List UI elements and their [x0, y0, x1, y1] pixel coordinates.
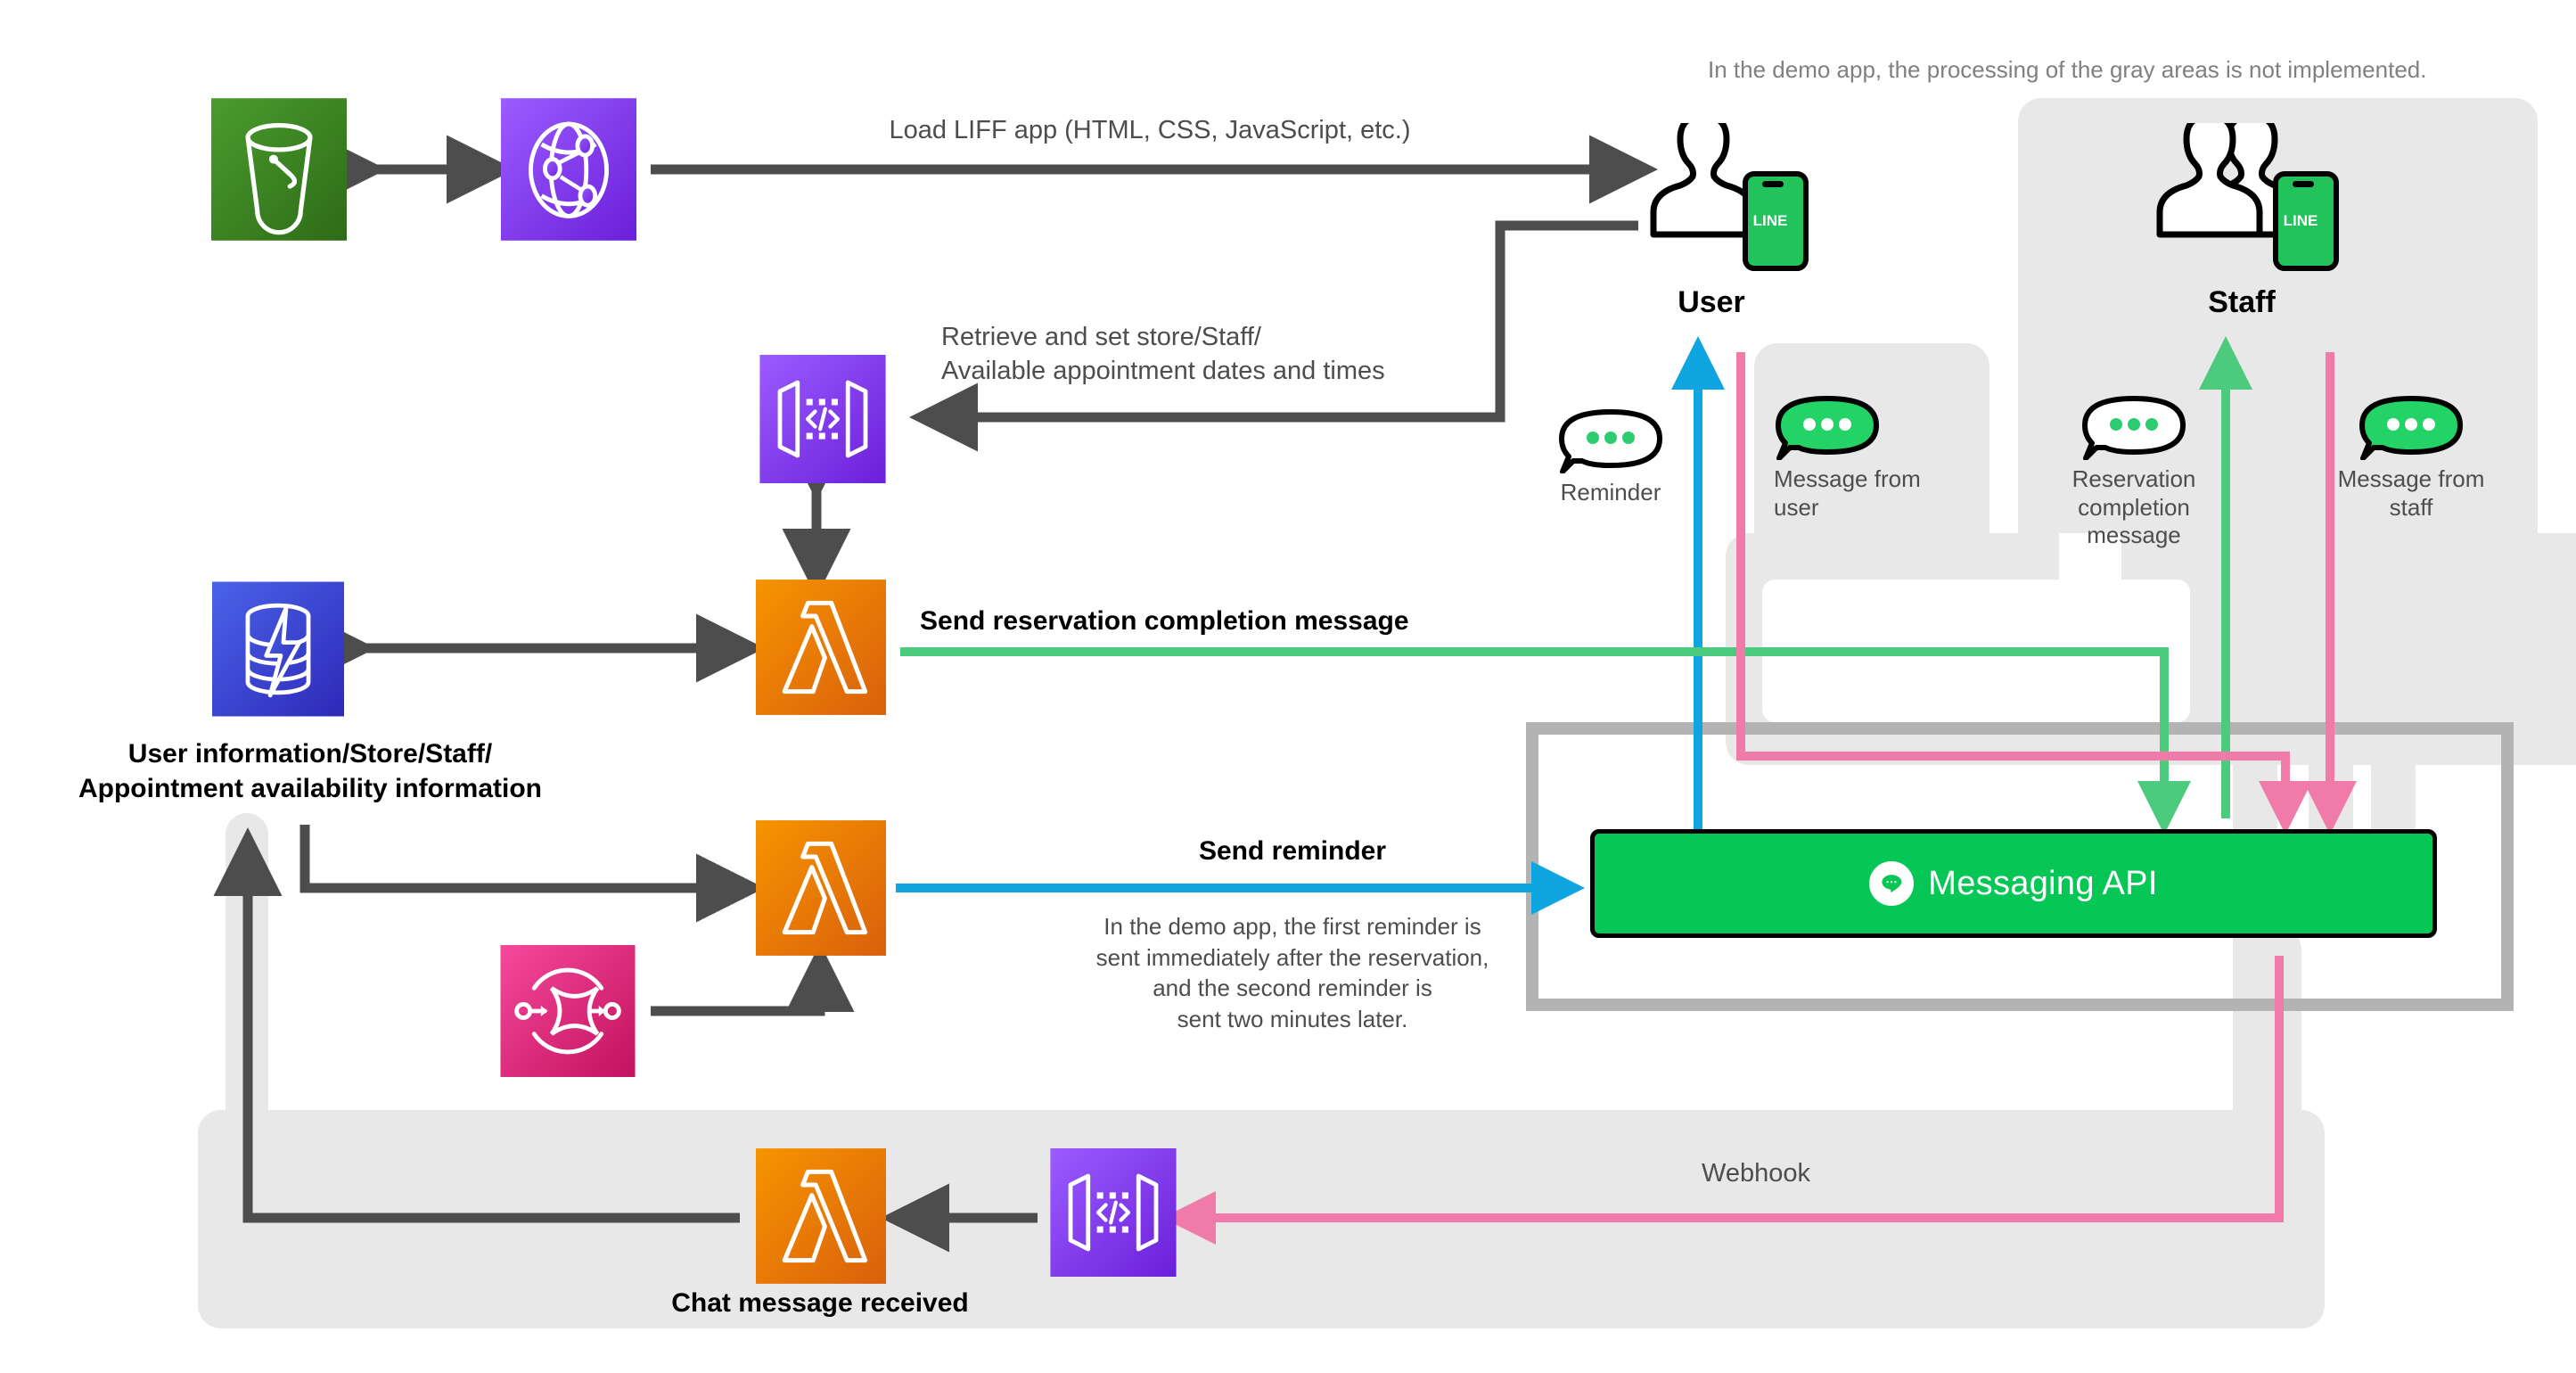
gray-area-left-vert — [226, 813, 268, 1152]
bubble-reminder-caption: Reminder — [1539, 479, 1682, 507]
edge-label-webhook: Webhook — [1604, 1157, 1907, 1191]
edge-label-retrieve-l1: Retrieve and set store/Staff/ — [941, 321, 1583, 355]
line-chat-icon — [1869, 861, 1914, 906]
edge-label-send-completion: Send reservation completion message — [920, 604, 1722, 638]
bubble-user-caption-l1: Message from — [1774, 465, 1952, 494]
bubble-reservation-caption-l2: completion — [2039, 494, 2228, 522]
reminder-note-l2: sent immediately after the reservation, — [980, 942, 1604, 974]
s3-bucket-icon — [211, 98, 347, 241]
arrow-branch-to-lambda-reminder — [305, 825, 745, 888]
staff-phone-icon: LINE — [2273, 171, 2339, 271]
lambda-icon-reminder — [756, 820, 886, 956]
reminder-note: In the demo app, the first reminder is s… — [980, 911, 1604, 1034]
architecture-diagram: LINE User LINE Staff Reminder — [0, 0, 2576, 1373]
staff-phone-line-label: LINE — [2278, 212, 2323, 230]
api-gateway-icon-bottom — [1050, 1148, 1177, 1277]
dynamodb-label-l2: Appointment availability information — [16, 771, 604, 806]
eventbridge-icon — [500, 945, 636, 1077]
dynamodb-icon — [212, 581, 344, 717]
dynamodb-label: User information/Store/Staff/ Appointmen… — [16, 736, 604, 806]
bubble-message-from-staff: Message from staff — [2318, 392, 2505, 522]
bubble-reminder: Reminder — [1539, 406, 1682, 507]
speech-bubble-green-icon — [2358, 392, 2465, 460]
bubble-reservation-caption-l1: Reservation — [2039, 465, 2228, 494]
user-phone-icon: LINE — [1743, 171, 1809, 271]
messaging-api-box[interactable]: Messaging API — [1590, 829, 2437, 938]
lambda-icon-chat — [756, 1148, 886, 1284]
gray-area-notch-white — [1762, 580, 2190, 722]
edge-label-send-reminder: Send reminder — [980, 834, 1604, 868]
edge-label-load-liff: Load LIFF app (HTML, CSS, JavaScript, et… — [749, 114, 1551, 148]
arrow-eventbridge-lambda — [651, 963, 820, 1011]
speech-bubble-green-icon — [1774, 392, 1881, 460]
user-phone-line-label: LINE — [1748, 212, 1793, 230]
reminder-note-l4: sent two minutes later. — [980, 1004, 1604, 1035]
user-label: User — [1622, 284, 1801, 322]
staff-label: Staff — [2144, 284, 2340, 322]
bubble-staff-caption-l2: staff — [2318, 494, 2505, 522]
reminder-note-l1: In the demo app, the first reminder is — [980, 911, 1604, 942]
phone-notch — [1762, 181, 1784, 187]
api-gateway-icon-top — [759, 355, 886, 483]
dynamodb-label-l1: User information/Store/Staff/ — [16, 736, 604, 771]
bubble-staff-caption-l1: Message from — [2318, 465, 2505, 494]
edge-label-retrieve: Retrieve and set store/Staff/ Available … — [941, 321, 1583, 388]
messaging-api-label: Messaging API — [1928, 865, 2157, 903]
person-icon — [1653, 123, 1753, 234]
cloudfront-icon — [501, 98, 636, 241]
note-top-right: In the demo app, the processing of the g… — [1708, 55, 2546, 86]
bubble-user-caption-l2: user — [1774, 494, 1952, 522]
bubble-message-from-user: Message from user — [1774, 392, 1952, 522]
edge-label-retrieve-l2: Available appointment dates and times — [941, 355, 1583, 389]
bubble-reservation-completion: Reservation completion message — [2039, 392, 2228, 550]
chat-received-label: Chat message received — [624, 1286, 1016, 1320]
phone-notch — [2293, 181, 2314, 187]
lambda-icon-reservation — [756, 580, 886, 715]
gray-area-bottom — [198, 1110, 2325, 1328]
reminder-note-l3: and the second reminder is — [980, 973, 1604, 1004]
bubble-reservation-caption-l3: message — [2039, 522, 2228, 550]
speech-bubble-white-icon — [1557, 406, 1664, 473]
speech-bubble-white-icon — [2080, 392, 2187, 460]
